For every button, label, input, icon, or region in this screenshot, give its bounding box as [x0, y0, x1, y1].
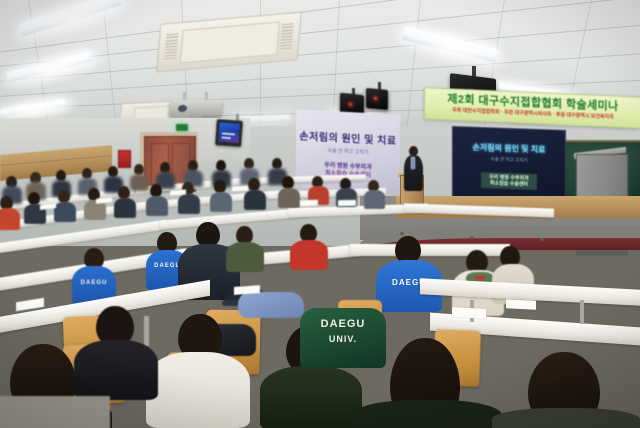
desk-leg [144, 316, 149, 346]
audience-jacket-green [260, 366, 362, 428]
screen-right-subtitle: 수술 안 하고 고치기 [453, 155, 565, 165]
desk [350, 244, 510, 256]
screen-right-title: 손저림의 원인 및 치료 [453, 141, 565, 156]
jacket-sub-text: UNIV. [300, 334, 386, 344]
audience-body-red [290, 240, 328, 270]
audience-body [364, 190, 385, 209]
audience-body [278, 188, 300, 208]
jacket-text: DAEGU [300, 318, 386, 330]
lecture-hall-photo: 제2회 대구수지접합협회 학술세미나 주최 대한수지접합학회 · 주관 대구광역… [0, 0, 640, 428]
audience-jacket-green: DAEGU UNIV. [300, 308, 386, 368]
stage-floor-socket [470, 236, 474, 239]
audience-body [130, 174, 149, 191]
audience-body [114, 198, 136, 218]
audience-body [54, 202, 76, 222]
audience-body [244, 190, 266, 210]
projector [169, 100, 223, 116]
stage-floor-socket [540, 238, 544, 241]
audience-body [492, 408, 640, 428]
audience-body-white [146, 352, 250, 428]
audience-body [178, 194, 200, 214]
presenter-necktie [412, 158, 414, 169]
paper [452, 307, 486, 319]
folded-jacket [238, 292, 304, 318]
audience-body [210, 192, 232, 212]
audience-body [74, 340, 158, 400]
exit-sign [176, 124, 188, 131]
projection-screen-right: 손저림의 원인 및 치료 수술 안 하고 고치기 우리 병원 수부외과 최소침습… [452, 126, 566, 206]
paper [338, 200, 356, 206]
audience-head [395, 236, 421, 263]
fire-extinguisher-box [118, 150, 131, 168]
screen-right-block: 우리 병원 수부외과 최소침습 수술센터 [481, 172, 537, 190]
audience-body-olive [226, 242, 264, 272]
jacket-logo [476, 276, 485, 280]
paper [300, 200, 318, 207]
ceiling-speaker [366, 88, 388, 110]
audience-body [146, 196, 168, 216]
jacket-text: DAEGU [72, 280, 116, 286]
audience-body [352, 400, 502, 428]
stage-floor-socket [400, 232, 404, 235]
paper [232, 186, 248, 192]
wall-monitor[interactable] [215, 119, 243, 147]
audience-body-orange [0, 208, 20, 230]
floor [0, 396, 110, 428]
paper [506, 299, 536, 310]
desk-leg [580, 300, 584, 324]
